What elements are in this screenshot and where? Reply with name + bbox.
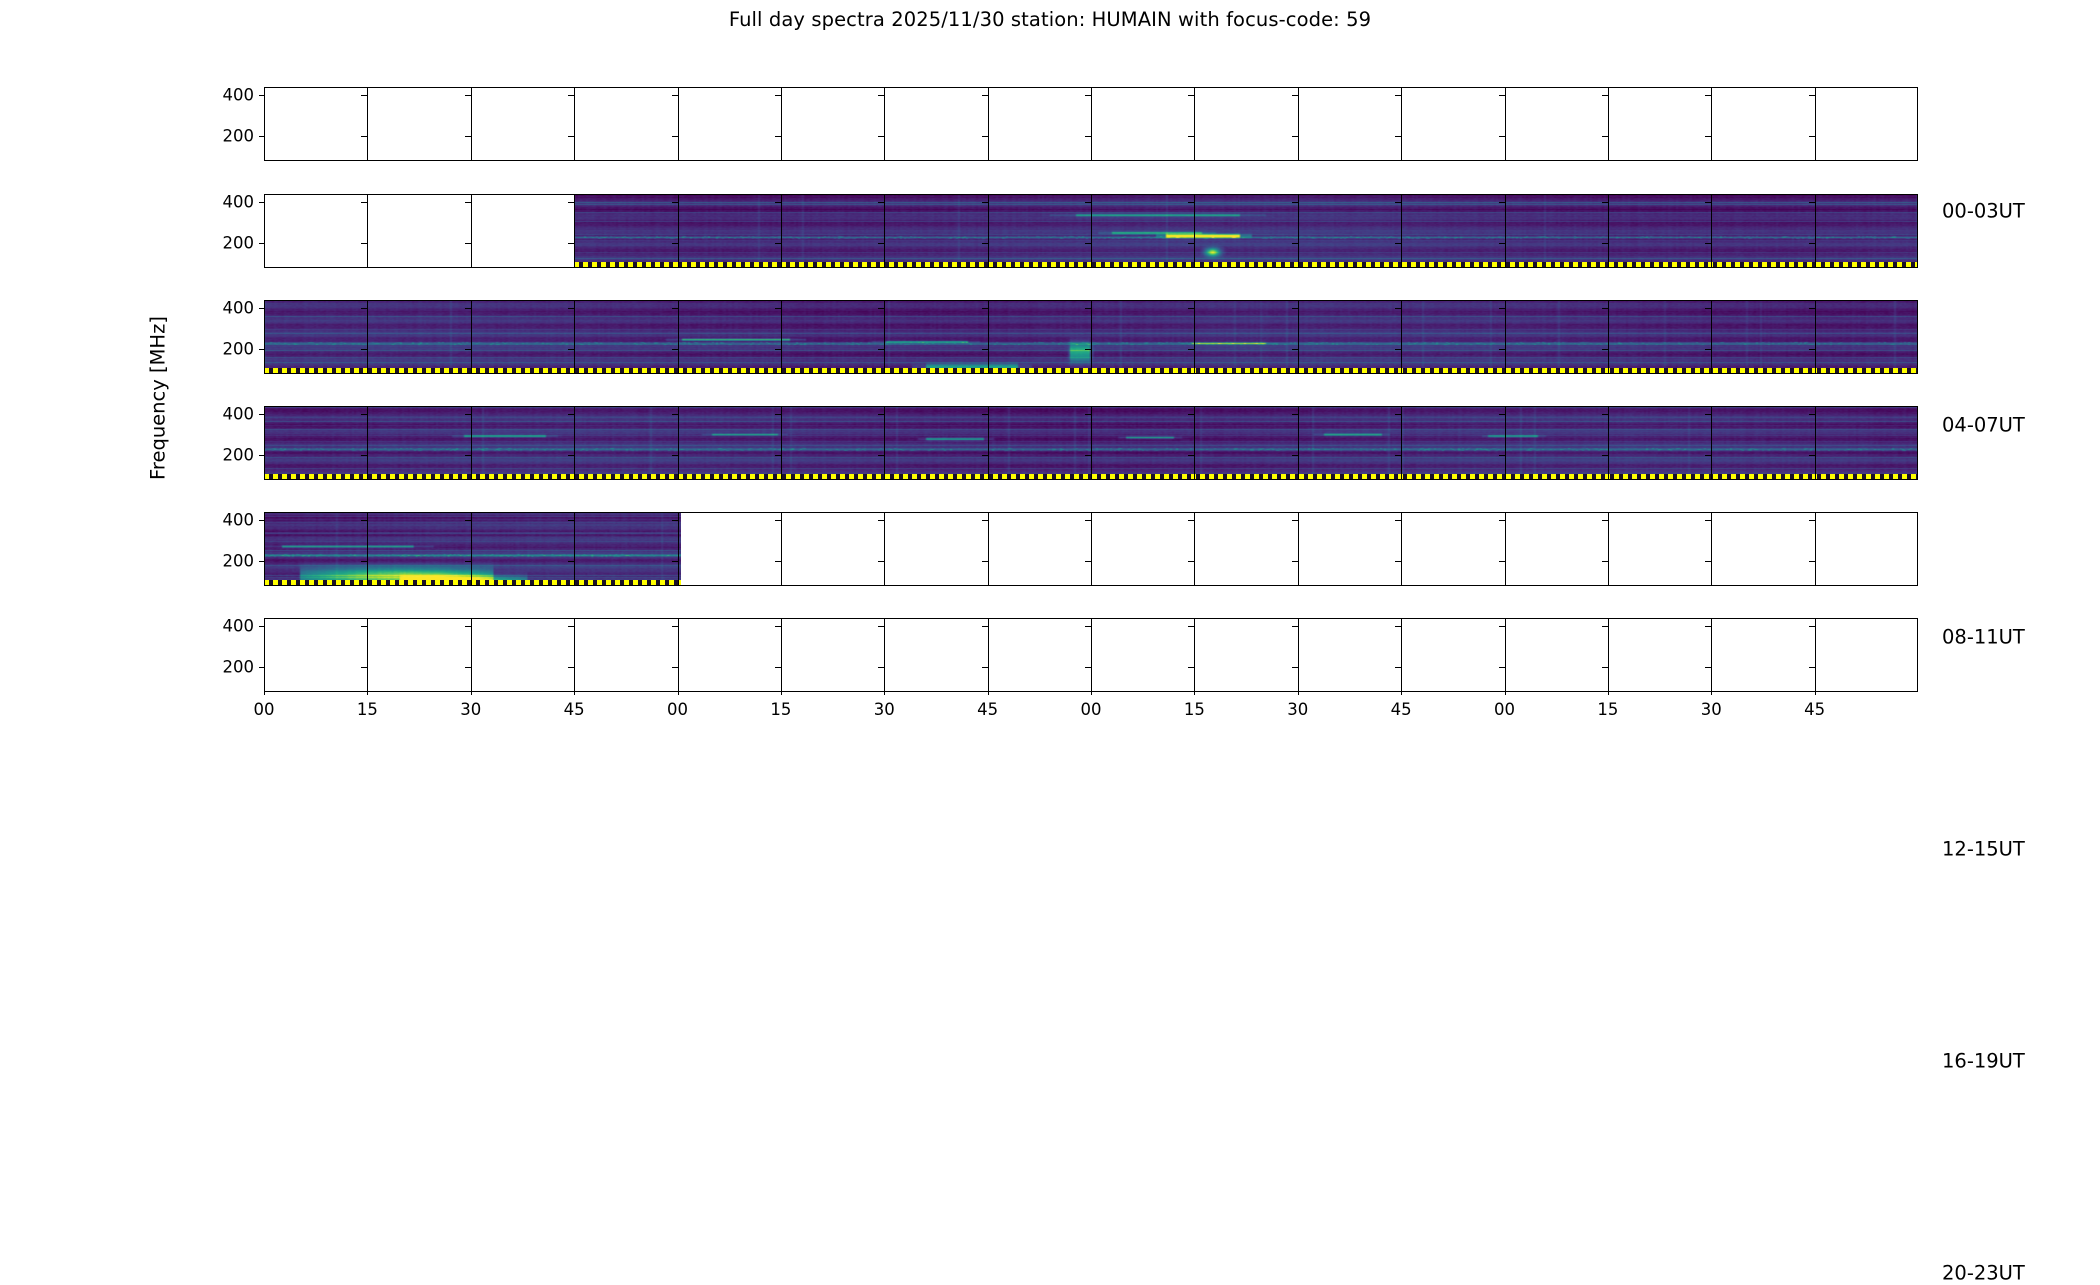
y-tick-mark-inner (361, 136, 367, 137)
y-tick-mark-inner (1499, 414, 1505, 415)
y-tick-mark-inner (1499, 626, 1505, 627)
y-tick-mark-inner (775, 414, 781, 415)
y-tick-mark-inner (982, 626, 988, 627)
spectrogram-row-row-04-07[interactable]: 40020004-07UT (264, 194, 1918, 268)
y-tick-mark-inner (878, 95, 884, 96)
y-tick-mark-inner (1292, 414, 1298, 415)
y-tick-mark-inner (878, 667, 884, 668)
y-tick-mark-inner (1395, 136, 1401, 137)
x-tick-mark (884, 690, 885, 695)
y-tick-mark-inner (1705, 95, 1711, 96)
y-tick-mark-inner (878, 455, 884, 456)
y-tick-mark-inner (1705, 136, 1711, 137)
y-tick-mark-inner (568, 202, 574, 203)
y-tick-mark-inner (1705, 414, 1711, 415)
y-tick-mark-inner (1809, 561, 1815, 562)
y-tick-mark (259, 414, 264, 415)
y-tick-mark-inner (1809, 95, 1815, 96)
y-tick-mark-inner (1499, 243, 1505, 244)
x-tick-label: 00 (254, 700, 275, 719)
y-tick-mark-inner (568, 349, 574, 350)
y-tick-mark-inner (775, 202, 781, 203)
x-tick-label: 45 (977, 700, 998, 719)
y-tick-mark-inner (982, 561, 988, 562)
y-tick-mark-inner (1705, 308, 1711, 309)
y-tick-mark-inner (1395, 626, 1401, 627)
y-tick-mark-inner (361, 414, 367, 415)
x-tick-label: 00 (1494, 700, 1515, 719)
y-tick-mark-inner (1809, 202, 1815, 203)
y-tick-mark-inner (568, 455, 574, 456)
y-tick-mark-inner (361, 455, 367, 456)
row-time-label-row-20-23: 20-23UT (1942, 1262, 2025, 1285)
y-tick-label: 200 (223, 552, 255, 571)
y-tick-mark-inner (672, 414, 678, 415)
y-tick-mark-inner (672, 667, 678, 668)
y-tick-mark-inner (1499, 667, 1505, 668)
x-tick-mark (1298, 690, 1299, 695)
y-tick-mark-inner (568, 561, 574, 562)
y-tick-mark-inner (1292, 202, 1298, 203)
y-tick-mark-inner (1188, 136, 1194, 137)
y-tick-mark-inner (1602, 561, 1608, 562)
row-time-label-row-00-03: 00-03UT (1942, 200, 2025, 223)
y-tick-mark-inner (1085, 202, 1091, 203)
y-tick-mark-inner (1085, 243, 1091, 244)
y-tick-mark-inner (1499, 349, 1505, 350)
y-tick-mark-inner (982, 95, 988, 96)
y-tick-mark-inner (568, 414, 574, 415)
y-tick-label: 400 (223, 193, 255, 212)
y-tick-mark-inner (1292, 136, 1298, 137)
x-tick-label: 30 (874, 700, 895, 719)
y-tick-mark-inner (878, 520, 884, 521)
y-tick-mark-inner (465, 243, 471, 244)
x-tick-mark (1711, 690, 1712, 695)
x-tick-label: 45 (564, 700, 585, 719)
y-tick-mark-inner (775, 667, 781, 668)
y-tick-mark-inner (465, 136, 471, 137)
y-tick-mark-inner (878, 349, 884, 350)
y-tick-mark-inner (361, 95, 367, 96)
y-tick-label: 200 (223, 446, 255, 465)
y-tick-mark-inner (1499, 520, 1505, 521)
y-tick-mark-inner (361, 561, 367, 562)
y-tick-mark-inner (672, 202, 678, 203)
y-tick-mark-inner (465, 667, 471, 668)
y-tick-mark-inner (1395, 414, 1401, 415)
y-tick-mark-inner (1809, 349, 1815, 350)
x-tick-mark (471, 690, 472, 695)
y-tick-mark-inner (361, 626, 367, 627)
y-tick-mark-inner (1809, 455, 1815, 456)
y-tick-mark-inner (1395, 243, 1401, 244)
y-tick-mark-inner (982, 202, 988, 203)
y-tick-mark-inner (465, 349, 471, 350)
y-tick-mark-inner (982, 136, 988, 137)
x-tick-mark (1091, 690, 1092, 695)
y-tick-mark-inner (1292, 243, 1298, 244)
y-tick-mark-inner (1188, 414, 1194, 415)
y-tick-mark-inner (1395, 667, 1401, 668)
y-tick-mark (259, 136, 264, 137)
y-tick-mark-inner (1395, 308, 1401, 309)
x-axis: 00153045001530450015304500153045 (264, 690, 1918, 750)
y-tick-mark (259, 520, 264, 521)
y-tick-mark-inner (878, 414, 884, 415)
y-tick-mark (259, 626, 264, 627)
y-tick-mark-inner (568, 243, 574, 244)
y-tick-mark-inner (982, 455, 988, 456)
row-time-label-row-16-19: 16-19UT (1942, 1050, 2025, 1073)
figure-canvas: Full day spectra 2025/11/30 station: HUM… (0, 0, 2100, 800)
y-tick-mark-inner (1188, 520, 1194, 521)
x-tick-label: 00 (1081, 700, 1102, 719)
x-tick-mark (1608, 690, 1609, 695)
spectrogram-row-row-12-15[interactable]: 40020012-15UT (264, 406, 1918, 480)
y-tick-mark-inner (1705, 626, 1711, 627)
y-tick-mark-inner (672, 561, 678, 562)
y-tick-mark-inner (775, 136, 781, 137)
panel-border (264, 512, 1918, 586)
y-tick-mark-inner (568, 308, 574, 309)
y-tick-mark-inner (1188, 308, 1194, 309)
y-tick-mark-inner (672, 136, 678, 137)
x-tick-label: 45 (1804, 700, 1825, 719)
y-tick-label: 400 (223, 511, 255, 530)
y-tick-mark-inner (1085, 136, 1091, 137)
y-tick-mark (259, 202, 264, 203)
x-tick-label: 15 (357, 700, 378, 719)
y-tick-mark-inner (775, 349, 781, 350)
y-tick-mark-inner (672, 308, 678, 309)
y-tick-mark-inner (982, 414, 988, 415)
row-time-label-row-04-07: 04-07UT (1942, 414, 2025, 437)
panel-border (264, 618, 1918, 692)
y-tick-label: 400 (223, 86, 255, 105)
y-tick-mark-inner (1292, 349, 1298, 350)
y-tick-mark-inner (1085, 626, 1091, 627)
y-tick-mark-inner (982, 520, 988, 521)
x-tick-label: 30 (1701, 700, 1722, 719)
row-time-label-row-08-11: 08-11UT (1942, 626, 2025, 649)
y-tick-mark (259, 349, 264, 350)
y-tick-mark-inner (1809, 308, 1815, 309)
spectrogram-row-row-20-23[interactable]: 40020020-23UT (264, 618, 1918, 692)
x-tick-label: 30 (460, 700, 481, 719)
y-tick-mark-inner (1188, 667, 1194, 668)
y-tick-mark-inner (1705, 667, 1711, 668)
panel-border (264, 87, 1918, 161)
y-tick-label: 200 (223, 127, 255, 146)
y-tick-mark-inner (361, 349, 367, 350)
y-tick-label: 400 (223, 405, 255, 424)
y-tick-mark (259, 243, 264, 244)
y-tick-mark-inner (1292, 667, 1298, 668)
y-tick-mark-inner (1188, 561, 1194, 562)
y-tick-mark-inner (1085, 455, 1091, 456)
y-tick-mark-inner (1499, 308, 1505, 309)
y-tick-mark-inner (775, 308, 781, 309)
y-tick-mark-inner (878, 626, 884, 627)
y-tick-mark-inner (775, 95, 781, 96)
y-tick-mark-inner (1292, 626, 1298, 627)
y-tick-mark-inner (465, 95, 471, 96)
page-title: Full day spectra 2025/11/30 station: HUM… (0, 8, 2100, 31)
y-tick-mark-inner (982, 243, 988, 244)
x-tick-mark (1505, 690, 1506, 695)
row-time-label-row-12-15: 12-15UT (1942, 838, 2025, 861)
y-tick-mark-inner (1602, 667, 1608, 668)
y-tick-mark-inner (878, 136, 884, 137)
y-tick-mark-inner (1188, 349, 1194, 350)
x-tick-mark (1194, 690, 1195, 695)
y-tick-mark (259, 667, 264, 668)
y-tick-mark-inner (672, 243, 678, 244)
y-tick-mark-inner (1085, 414, 1091, 415)
x-tick-label: 00 (667, 700, 688, 719)
y-tick-mark-inner (1809, 414, 1815, 415)
x-tick-mark (678, 690, 679, 695)
y-tick-mark-inner (361, 308, 367, 309)
y-tick-mark-inner (878, 561, 884, 562)
y-tick-mark-inner (568, 626, 574, 627)
y-tick-mark-inner (1602, 136, 1608, 137)
y-tick-mark-inner (1085, 520, 1091, 521)
y-tick-mark-inner (1705, 349, 1711, 350)
y-tick-mark-inner (672, 626, 678, 627)
x-tick-mark (1401, 690, 1402, 695)
y-tick-mark-inner (465, 455, 471, 456)
y-tick-label: 200 (223, 658, 255, 677)
y-tick-mark-inner (1705, 561, 1711, 562)
y-tick-mark-inner (1499, 202, 1505, 203)
y-tick-mark-inner (1705, 243, 1711, 244)
y-tick-mark-inner (568, 136, 574, 137)
y-tick-mark-inner (1809, 626, 1815, 627)
y-tick-mark-inner (1188, 626, 1194, 627)
panel-border (264, 300, 1918, 374)
y-tick-label: 200 (223, 340, 255, 359)
y-tick-mark-inner (1395, 455, 1401, 456)
y-tick-mark-inner (1188, 455, 1194, 456)
y-tick-mark-inner (1809, 520, 1815, 521)
y-tick-mark-inner (982, 349, 988, 350)
y-tick-mark-inner (361, 667, 367, 668)
panel-border (264, 406, 1918, 480)
y-tick-mark-inner (1602, 520, 1608, 521)
y-tick-mark-inner (1292, 455, 1298, 456)
y-tick-mark-inner (1188, 243, 1194, 244)
y-tick-mark-inner (1602, 455, 1608, 456)
y-tick-mark-inner (1395, 95, 1401, 96)
x-tick-mark (264, 690, 265, 695)
y-tick-mark-inner (1705, 455, 1711, 456)
y-tick-mark-inner (568, 667, 574, 668)
y-tick-mark-inner (982, 308, 988, 309)
y-tick-mark-inner (775, 626, 781, 627)
y-tick-mark-inner (1395, 520, 1401, 521)
y-tick-mark-inner (672, 455, 678, 456)
y-tick-mark-inner (1085, 561, 1091, 562)
panel-border (264, 194, 1918, 268)
x-tick-label: 15 (770, 700, 791, 719)
y-tick-mark-inner (672, 349, 678, 350)
y-tick-mark-inner (878, 202, 884, 203)
y-tick-mark-inner (775, 455, 781, 456)
y-tick-mark-inner (1292, 520, 1298, 521)
y-tick-mark-inner (465, 520, 471, 521)
x-tick-label: 15 (1184, 700, 1205, 719)
y-tick-mark-inner (775, 243, 781, 244)
y-tick-mark-inner (1085, 349, 1091, 350)
y-tick-mark-inner (1292, 561, 1298, 562)
x-tick-label: 30 (1287, 700, 1308, 719)
x-tick-mark (988, 690, 989, 695)
y-tick-mark-inner (1705, 520, 1711, 521)
x-tick-mark (1815, 690, 1816, 695)
spectrogram-row-row-16-19[interactable]: 40020016-19UT (264, 512, 1918, 586)
x-tick-mark (574, 690, 575, 695)
y-tick-mark-inner (1395, 202, 1401, 203)
y-tick-mark-inner (1809, 667, 1815, 668)
y-tick-mark-inner (672, 520, 678, 521)
y-tick-mark-inner (1602, 308, 1608, 309)
y-tick-mark-inner (361, 520, 367, 521)
y-tick-label: 400 (223, 299, 255, 318)
y-tick-mark-inner (465, 561, 471, 562)
y-tick-mark-inner (465, 626, 471, 627)
y-tick-label: 400 (223, 617, 255, 636)
y-tick-mark-inner (1085, 308, 1091, 309)
y-tick-mark (259, 308, 264, 309)
x-tick-mark (781, 690, 782, 695)
y-tick-mark-inner (1188, 95, 1194, 96)
y-tick-mark-inner (1499, 455, 1505, 456)
y-tick-mark-inner (1292, 308, 1298, 309)
y-tick-mark-inner (982, 667, 988, 668)
y-tick-mark-inner (1292, 95, 1298, 96)
x-tick-label: 15 (1597, 700, 1618, 719)
y-tick-mark-inner (465, 414, 471, 415)
y-tick-mark-inner (1809, 243, 1815, 244)
y-tick-mark-inner (1602, 626, 1608, 627)
y-tick-mark-inner (1602, 414, 1608, 415)
y-tick-mark-inner (1705, 202, 1711, 203)
y-tick-mark-inner (1602, 243, 1608, 244)
y-tick-mark-inner (878, 308, 884, 309)
y-tick-mark-inner (1499, 136, 1505, 137)
y-tick-mark-inner (1085, 95, 1091, 96)
y-tick-mark-inner (568, 95, 574, 96)
y-tick-mark-inner (361, 243, 367, 244)
y-tick-mark-inner (775, 561, 781, 562)
y-tick-mark-inner (1395, 561, 1401, 562)
x-tick-mark (367, 690, 368, 695)
y-axis-label: Frequency [MHz] (147, 316, 170, 480)
y-tick-mark-inner (1602, 95, 1608, 96)
y-tick-mark-inner (568, 520, 574, 521)
spectrogram-row-row-08-11[interactable]: 40020008-11UT (264, 300, 1918, 374)
y-tick-mark-inner (1602, 202, 1608, 203)
y-tick-mark-inner (1602, 349, 1608, 350)
y-tick-mark-inner (672, 95, 678, 96)
y-tick-mark-inner (1499, 95, 1505, 96)
spectrogram-row-row-00-03[interactable]: 40020000-03UT (264, 87, 1918, 161)
y-tick-mark-inner (1499, 561, 1505, 562)
y-tick-mark (259, 95, 264, 96)
y-tick-mark-inner (878, 243, 884, 244)
y-tick-mark-inner (465, 308, 471, 309)
y-tick-mark-inner (465, 202, 471, 203)
y-tick-mark-inner (1809, 136, 1815, 137)
y-tick-mark (259, 561, 264, 562)
y-tick-mark (259, 455, 264, 456)
x-tick-label: 45 (1391, 700, 1412, 719)
y-tick-mark-inner (775, 520, 781, 521)
y-tick-mark-inner (361, 202, 367, 203)
y-tick-label: 200 (223, 234, 255, 253)
y-tick-mark-inner (1188, 202, 1194, 203)
y-tick-mark-inner (1395, 349, 1401, 350)
y-tick-mark-inner (1085, 667, 1091, 668)
